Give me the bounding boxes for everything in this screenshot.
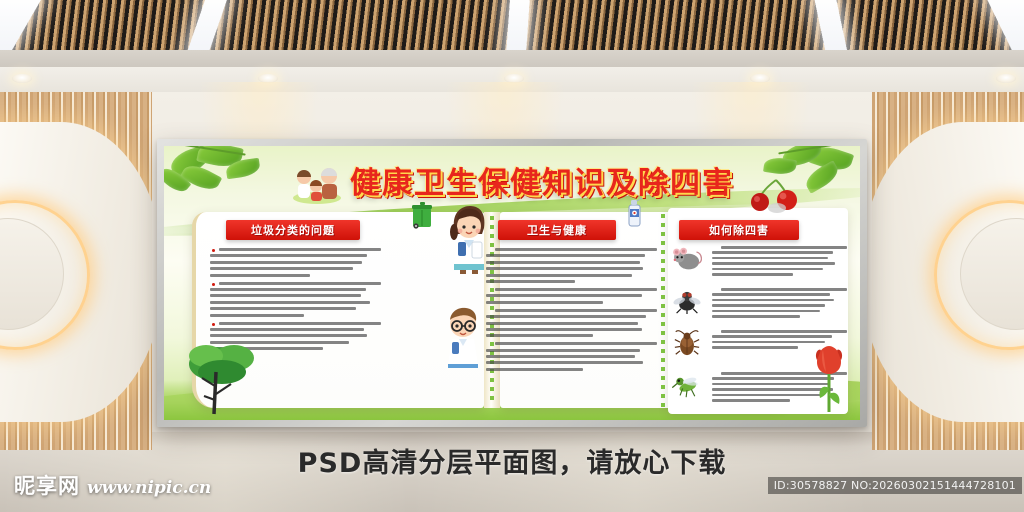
text-line (486, 328, 642, 331)
text-paragraph (486, 342, 648, 371)
text-line (486, 254, 645, 257)
text-line (712, 394, 823, 397)
text-line (210, 261, 362, 264)
text-line (712, 293, 830, 296)
text-paragraph (486, 309, 648, 338)
bullet-marker (212, 249, 215, 252)
text-line (210, 314, 304, 317)
text-line (210, 288, 366, 291)
site-name-cn: 昵享网 (14, 470, 80, 500)
text-line (486, 334, 593, 337)
text-line (712, 346, 798, 349)
info-board-canvas: 健康卫生保健知识及除四害 垃圾分类的问题 卫生与健康 如何除四害 (164, 146, 860, 420)
text-line (712, 315, 800, 318)
cherries-icon (746, 176, 804, 216)
right-wall-feature-panel (872, 92, 1024, 450)
mosquito-icon (672, 372, 706, 402)
room-scene: 健康卫生保健知识及除四害 垃圾分类的问题 卫生与健康 如何除四害 (0, 0, 1024, 512)
section-header-label: 如何除四害 (709, 222, 769, 238)
text-line (721, 288, 847, 291)
text-line (495, 248, 657, 251)
section-body-hygiene (486, 248, 648, 376)
text-line (486, 261, 640, 264)
text-line (210, 294, 361, 297)
doctor-character-icon (442, 204, 494, 274)
text-line (210, 301, 370, 304)
text-line (712, 335, 832, 338)
site-url-text: www.nipic.cn (87, 478, 211, 498)
text-line (712, 399, 790, 402)
text-line (712, 310, 820, 313)
text-line (210, 328, 364, 331)
section-header-label: 卫生与健康 (527, 222, 587, 238)
text-line (210, 254, 367, 257)
text-paragraph (210, 248, 372, 277)
bullet-marker (212, 283, 215, 286)
fly-icon (672, 288, 706, 318)
ceiling-linear-light (506, 0, 530, 52)
bullet-marker (212, 323, 215, 326)
text-line (712, 262, 835, 265)
downlight-icon (258, 74, 278, 83)
downlight-icon (12, 74, 32, 83)
text-line (486, 361, 643, 364)
text-line (721, 330, 847, 333)
text-line (486, 322, 638, 325)
text-line (712, 304, 825, 307)
site-watermark: 昵享网 www.nipic.cn (14, 470, 211, 500)
pest-description-text (712, 288, 838, 320)
text-line (486, 368, 583, 371)
text-line (712, 251, 833, 254)
text-line (219, 322, 381, 325)
text-line (486, 280, 575, 283)
section-header-pests: 如何除四害 (679, 220, 799, 240)
tulip-icon (812, 342, 846, 414)
text-paragraph (210, 282, 372, 317)
text-line (219, 282, 381, 285)
spray-can-icon (624, 198, 644, 228)
downlight-icon (996, 74, 1016, 83)
text-line (712, 299, 834, 302)
text-line (712, 273, 793, 276)
text-line (486, 274, 632, 277)
text-paragraph (486, 288, 648, 304)
text-line (486, 294, 642, 297)
section-header-garbage: 垃圾分类的问题 (226, 220, 360, 240)
pest-description-text (712, 246, 838, 278)
boy-student-character-icon (440, 306, 486, 368)
text-line (486, 267, 643, 270)
text-line (219, 248, 381, 251)
text-line (486, 355, 635, 358)
text-line (712, 268, 823, 271)
asset-id-watermark: ID:30578827 NO:20260302151444728101 (768, 477, 1022, 494)
text-line (486, 349, 640, 352)
tree-icon (186, 338, 260, 416)
section-header-label: 垃圾分类的问题 (251, 222, 335, 238)
text-line (486, 301, 603, 304)
ceiling-bulkhead (0, 50, 1024, 68)
text-line (712, 257, 828, 260)
page-title: 健康卫生保健知识及除四害 (350, 169, 734, 199)
text-line (495, 288, 657, 291)
downlight-icon (504, 74, 524, 83)
family-cartoon-icon (290, 164, 344, 204)
text-paragraph (486, 248, 648, 283)
left-wall-feature-panel (0, 92, 152, 450)
info-board-frame: 健康卫生保健知识及除四害 垃圾分类的问题 卫生与健康 如何除四害 (157, 139, 867, 427)
mouse-icon (672, 246, 706, 276)
trash-bin-icon (411, 202, 433, 230)
text-line (210, 334, 367, 337)
text-line (210, 307, 356, 310)
ceiling-wood-slats (0, 0, 1024, 52)
text-line (712, 341, 825, 344)
text-line (210, 274, 310, 277)
text-line (495, 309, 657, 312)
text-line (721, 246, 847, 249)
section-header-hygiene: 卫生与健康 (498, 220, 616, 240)
downlight-icon (750, 74, 770, 83)
text-line (210, 267, 353, 270)
text-line (486, 315, 646, 318)
text-line (495, 342, 657, 345)
cockroach-icon (672, 330, 706, 360)
